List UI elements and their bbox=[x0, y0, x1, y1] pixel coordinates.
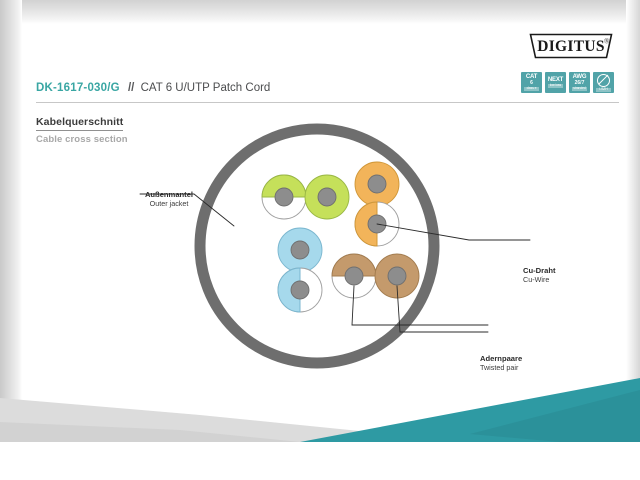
green-striped-wire-core bbox=[275, 188, 293, 206]
blue-striped-wire-core bbox=[291, 281, 309, 299]
callout-cu-wire-en: Cu-Wire bbox=[523, 275, 555, 284]
blue-solid-wire-core bbox=[291, 241, 309, 259]
orange-solid-wire-core bbox=[368, 175, 386, 193]
green-solid-wire-core bbox=[318, 188, 336, 206]
brown-striped-wire-core bbox=[345, 267, 363, 285]
callout-outer-jacket: Außenmantel Outer jacket bbox=[126, 190, 212, 208]
header-divider bbox=[36, 102, 619, 103]
page-margin-left bbox=[0, 0, 22, 480]
page-margin-top bbox=[0, 0, 640, 24]
brown-solid-wire-core bbox=[388, 267, 406, 285]
registered-mark: ® bbox=[604, 38, 610, 46]
blue-striped-wire bbox=[278, 268, 322, 312]
callout-twisted-pair: Adernpaare Twisted pair bbox=[480, 354, 522, 372]
callout-outer-jacket-de: Außenmantel bbox=[126, 190, 212, 199]
product-code: DK-1617-030/G bbox=[36, 82, 120, 94]
callout-cu-wire: Cu-Draht Cu-Wire bbox=[523, 266, 555, 284]
header-row: DK-1617-030/G // CAT 6 U/UTP Patch Cord bbox=[36, 82, 616, 102]
digitus-logo: DIGITUS ® bbox=[528, 32, 614, 60]
cable-cross-section-diagram bbox=[22, 120, 626, 390]
orange-solid-wire bbox=[355, 162, 399, 206]
green-solid-wire bbox=[305, 175, 349, 219]
blue-solid-wire bbox=[278, 228, 322, 272]
callout-cu-wire-de: Cu-Draht bbox=[523, 266, 555, 275]
datasheet-page: DIGITUS ® CAT 6 class e NEXT low loss AW… bbox=[22, 24, 626, 448]
title-separator: // bbox=[128, 82, 134, 94]
product-name: CAT 6 U/UTP Patch Cord bbox=[141, 82, 271, 94]
callout-twisted-pair-de: Adernpaare bbox=[480, 354, 522, 363]
callout-outer-jacket-en: Outer jacket bbox=[126, 199, 212, 208]
brand-name-text: DIGITUS bbox=[537, 38, 605, 55]
page-margin-right bbox=[626, 0, 640, 480]
green-striped-wire bbox=[262, 175, 306, 219]
page-title: DK-1617-030/G // CAT 6 U/UTP Patch Cord bbox=[36, 82, 270, 94]
callout-twisted-pair-en: Twisted pair bbox=[480, 363, 522, 372]
page-margin-bottom bbox=[0, 464, 640, 480]
